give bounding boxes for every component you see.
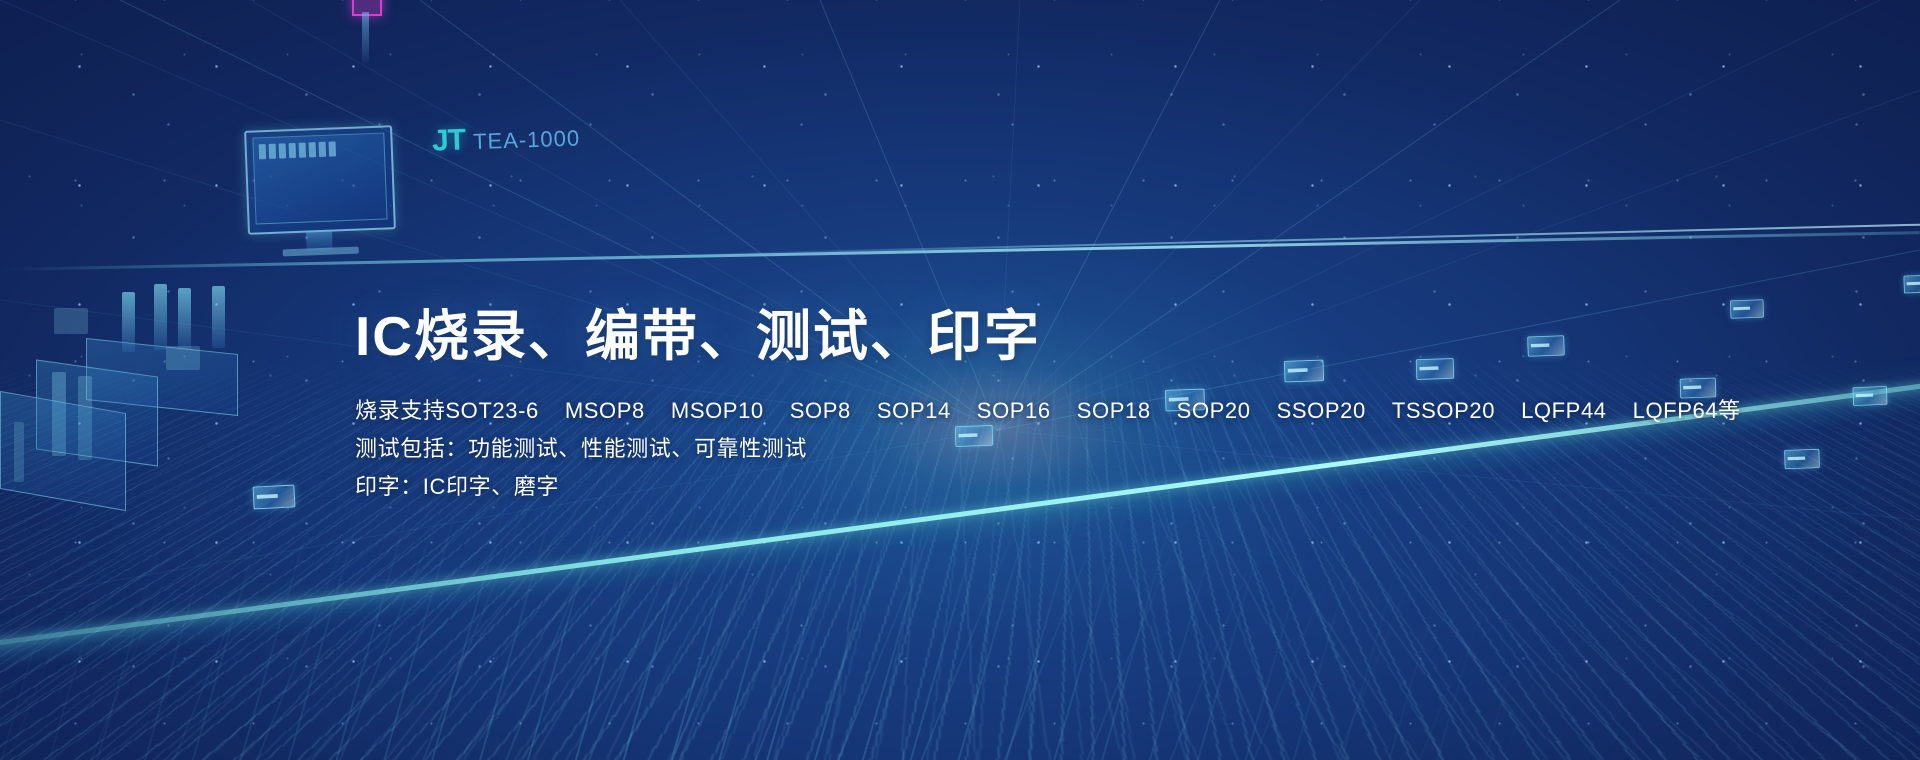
- package-ssop20: SSOP20: [1277, 392, 1366, 430]
- package-sop20: SOP20: [1177, 392, 1251, 430]
- package-lqfp44: LQFP44: [1521, 392, 1607, 430]
- brand-name: JT: [431, 123, 465, 158]
- burn-support-line: 烧录支持SOT23-6 MSOP8 MSOP10 SOP8 SOP14 SOP1…: [355, 392, 1655, 430]
- marking-scope-line: 印字：IC印字、磨字: [355, 468, 1655, 506]
- upper-rail-secondary: [680, 223, 1920, 256]
- machine-brand-label: JT TEA-1000: [431, 119, 580, 158]
- hero-subtitle-block: 烧录支持SOT23-6 MSOP8 MSOP10 SOP8 SOP14 SOP1…: [355, 392, 1655, 506]
- handler-machine-left-rear: [0, 392, 140, 552]
- monitor-base: [283, 247, 359, 257]
- ic-package-icon: [1784, 449, 1820, 469]
- page-title: IC烧录、编带、测试、印字: [355, 306, 1655, 368]
- package-list: 烧录支持SOT23-6 MSOP8 MSOP10 SOP8 SOP14 SOP1…: [355, 392, 1741, 430]
- ic-package-icon: [1730, 299, 1764, 318]
- test-scope-line: 测试包括：功能测试、性能测试、可靠性测试: [355, 430, 1655, 468]
- package-tssop20: TSSOP20: [1392, 392, 1495, 430]
- package-msop10: MSOP10: [671, 392, 764, 430]
- package-sop14: SOP14: [877, 392, 951, 430]
- package-sop8: SOP8: [790, 392, 851, 430]
- ic-package-icon: [1903, 275, 1920, 294]
- workstation-monitor-icon: [244, 125, 396, 235]
- ic-services-hero-banner: JT TEA-1000 IC烧录、编带、测试、印字 烧录支持SOT2: [0, 0, 1920, 760]
- package-lqfp64: LQFP64等: [1633, 392, 1741, 430]
- fixture-stem: [362, 12, 369, 64]
- burn-support-prefix: 烧录支持SOT23-6: [355, 392, 539, 430]
- handler-machine-left: [26, 268, 246, 468]
- package-msop8: MSOP8: [565, 392, 645, 430]
- magenta-fixture-icon: [352, 0, 382, 16]
- brand-model: TEA-1000: [473, 125, 581, 155]
- ic-package-icon: [1853, 386, 1888, 406]
- monitor-chip-row: [259, 141, 337, 159]
- ic-package-icon: [253, 485, 296, 510]
- package-sop16: SOP16: [977, 392, 1051, 430]
- hero-content: IC烧录、编带、测试、印字 烧录支持SOT23-6 MSOP8 MSOP10 S…: [355, 306, 1655, 506]
- package-sop18: SOP18: [1077, 392, 1151, 430]
